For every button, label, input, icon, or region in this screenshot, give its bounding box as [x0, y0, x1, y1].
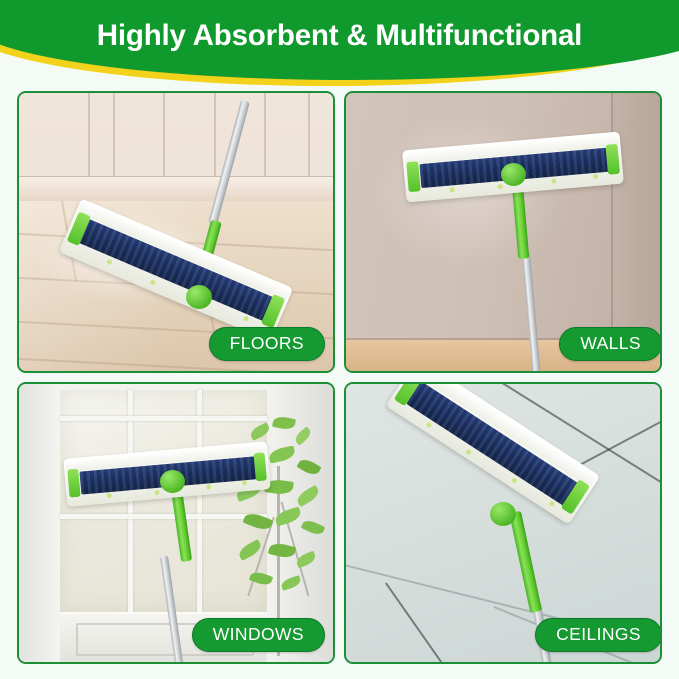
mop-swivel-joint — [490, 502, 516, 526]
mop-swivel-joint — [501, 163, 526, 186]
mop-pole-green — [509, 511, 542, 613]
page-title: Highly Absorbent & Multifunctional — [0, 21, 679, 51]
label-floors: FLOORS — [209, 327, 325, 361]
mop-pole-silver — [160, 555, 184, 662]
panel-ceilings[interactable]: CEILINGS — [344, 382, 662, 664]
header-banner: Highly Absorbent & Multifunctional — [0, 0, 679, 96]
label-walls: WALLS — [559, 327, 662, 361]
mop-end-cap-right — [254, 452, 267, 481]
product-infographic: Highly Absorbent & Multifunctional — [0, 0, 679, 679]
mop-end-cap-right — [605, 144, 620, 175]
panel-walls[interactable]: WALLS — [344, 91, 662, 373]
mop-head — [386, 384, 600, 525]
label-windows: WINDOWS — [192, 618, 325, 652]
mop-end-cap-left — [67, 469, 80, 498]
mop-swivel-joint — [186, 285, 212, 309]
mop-head — [59, 198, 293, 341]
mop-pole-silver — [522, 253, 541, 371]
label-ceilings: CEILINGS — [535, 618, 662, 652]
mop-pole-silver — [208, 100, 250, 226]
mop-swivel-joint — [160, 470, 185, 493]
mop-sponge — [406, 384, 578, 506]
panel-grid: FLOORS — [17, 91, 662, 664]
panel-floors[interactable]: FLOORS — [17, 91, 335, 373]
panel-windows[interactable]: WINDOWS — [17, 382, 335, 664]
mop-end-cap-left — [406, 161, 421, 192]
